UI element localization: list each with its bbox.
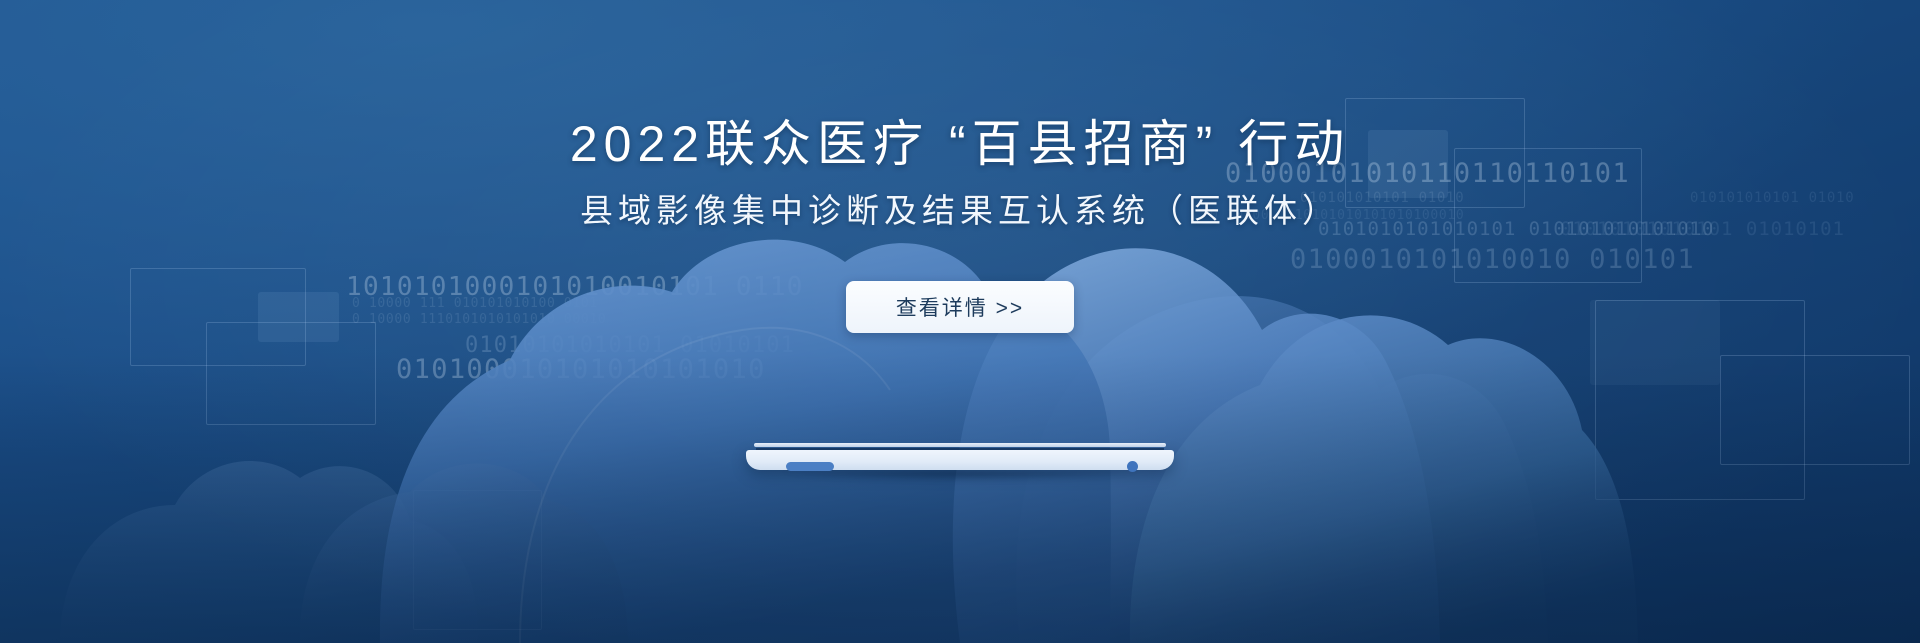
promo-banner: 1010101000101010010101 0110 0 10000 111 … — [0, 0, 1920, 643]
banner-title: 2022联众医疗 “百县招商” 行动 — [0, 0, 1920, 173]
view-details-button[interactable]: 查看详情 >> — [846, 281, 1074, 333]
cta-container: 查看详情 >> — [0, 281, 1920, 333]
laptop-deck — [746, 450, 1174, 470]
laptop-device — [746, 443, 1174, 477]
banner-subtitle: 县域影像集中诊断及结果互认系统（医联体） — [0, 173, 1920, 231]
laptop-hinge — [754, 443, 1166, 447]
banner-content: 2022联众医疗 “百县招商” 行动 县域影像集中诊断及结果互认系统（医联体） … — [0, 0, 1920, 333]
laptop-shadow — [772, 471, 1148, 485]
laptop-trackpad — [786, 462, 834, 471]
laptop-indicator-dot — [1127, 461, 1138, 472]
